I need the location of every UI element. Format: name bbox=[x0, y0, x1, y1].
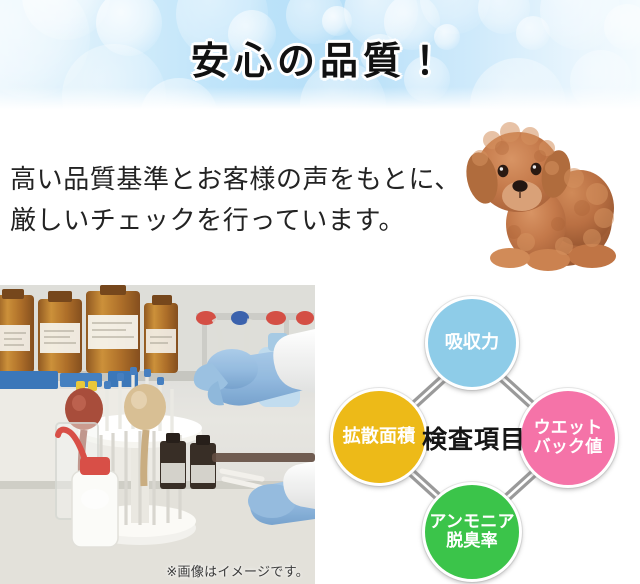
banner-bottom-fade bbox=[0, 87, 640, 113]
diagram-node-label: 拡散面積 bbox=[343, 427, 416, 447]
diagram-node-label-line2: 脱臭率 bbox=[446, 531, 498, 551]
lead-paragraph: 高い品質基準とお客様の声をもとに、 厳しいチェックを行っています。 bbox=[10, 160, 460, 242]
diagram-node-label: アンモニア 脱臭率 bbox=[429, 513, 514, 551]
bokeh-circle bbox=[478, 0, 530, 34]
diagram-node-absorption[interactable]: 吸収力 bbox=[425, 296, 519, 390]
diagram-node-ammonia-deodorization[interactable]: アンモニア 脱臭率 bbox=[422, 482, 522, 582]
poodle-illustration bbox=[452, 112, 640, 284]
diagram-node-label: 吸収力 bbox=[445, 333, 500, 353]
diagram-node-label-line1: ウエット bbox=[534, 418, 603, 438]
diagram-node-label: ウエット バック値 bbox=[534, 419, 603, 457]
lab-illustration bbox=[0, 285, 315, 584]
diagram-node-label-line2: バック値 bbox=[534, 437, 603, 457]
diagram-node-wetback[interactable]: ウエット バック値 bbox=[518, 388, 618, 488]
lab-photo-caption: ※画像はイメージです。 bbox=[166, 561, 309, 580]
banner-title-wrap: 安心の品質！ bbox=[0, 30, 640, 85]
page-title: 安心の品質！ bbox=[191, 30, 449, 85]
lead-line-1: 高い品質基準とお客様の声をもとに、 bbox=[10, 160, 460, 201]
header-banner: 安心の品質！ bbox=[0, 0, 640, 113]
inspection-items-diagram: 吸収力 ウエット バック値 アンモニア 脱臭率 拡散面積 検査項目 bbox=[330, 292, 640, 584]
lab-photo: ※画像はイメージです。 bbox=[0, 285, 315, 584]
diagram-node-diffusion-area[interactable]: 拡散面積 bbox=[330, 388, 428, 486]
poodle-photo bbox=[452, 112, 640, 284]
lead-line-2: 厳しいチェックを行っています。 bbox=[10, 201, 460, 242]
diagram-node-label-line1: アンモニア bbox=[429, 512, 514, 532]
diagram-center-label: 検査項目 bbox=[418, 420, 530, 456]
bokeh-circle bbox=[420, 0, 490, 34]
